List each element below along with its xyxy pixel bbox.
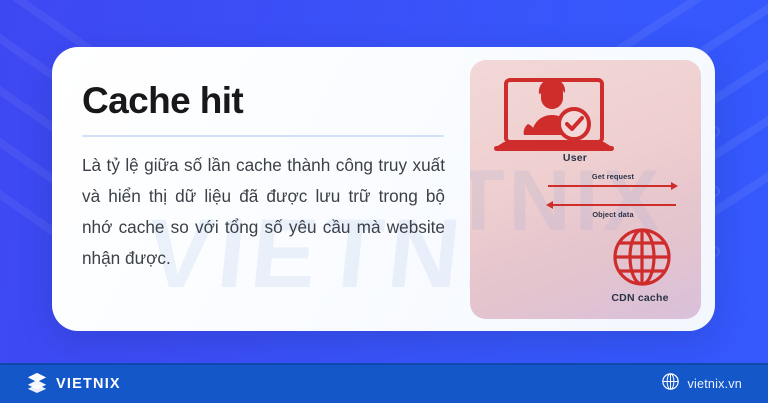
site-url-group[interactable]: vietnix.vn [662,373,743,395]
laptop-user-check-icon [494,77,614,160]
site-url: vietnix.vn [688,377,743,391]
brand-name: VIETNIX [56,376,121,392]
object-data-arrow-line [548,204,676,206]
footer-bar: VIETNIX vietnix.vn [0,363,768,403]
get-request-arrow-head [671,182,678,190]
diagram-panel: TNIX User [470,60,701,319]
get-request-arrow-line [548,185,676,187]
object-data-label: Object data [548,210,678,219]
get-request-label: Get request [548,172,678,181]
user-label: User [520,152,630,164]
request-flow-arrows: Get request Object data [548,172,678,224]
cdn-cache-label: CDN cache [590,292,690,304]
globe-icon [662,373,679,395]
stacked-layers-logo-icon [26,371,48,398]
text-column: Cache hit Là tỷ lệ giữa số lần cache thà… [82,79,467,274]
description-text: Là tỷ lệ giữa số lần cache thành công tr… [82,150,445,274]
title-divider [82,135,444,137]
globe-icon [611,226,673,293]
content-card: VIETNIX Cache hit Là tỷ lệ giữa số lần c… [52,47,715,331]
slide-canvas: VIETNIX Cache hit Là tỷ lệ giữa số lần c… [0,0,768,403]
brand-logo[interactable]: VIETNIX [26,371,121,398]
page-title: Cache hit [82,79,467,123]
object-data-arrow-head [546,201,553,209]
